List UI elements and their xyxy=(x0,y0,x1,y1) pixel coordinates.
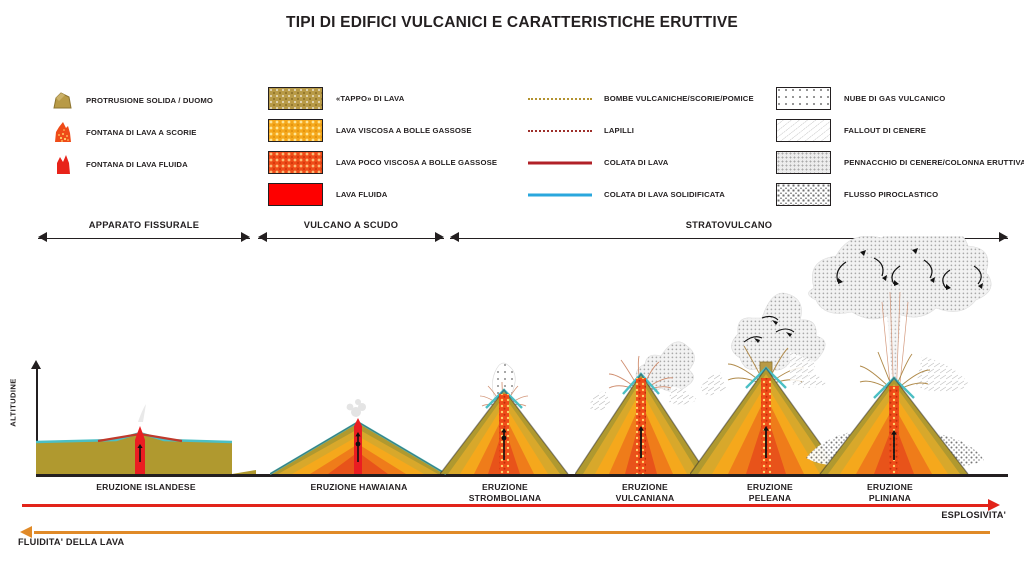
lapilli-line-icon xyxy=(528,125,592,137)
low-viscosity-lava-swatch xyxy=(268,151,323,174)
legend-item: PENNACCHIO DI CENERE/COLONNA ERUTTIVA xyxy=(776,150,1024,175)
volcano-islandese xyxy=(36,400,256,476)
eruption-label-hawaiana: ERUZIONE HAWAIANA xyxy=(270,482,448,493)
volcanic-bombs-line-icon xyxy=(528,93,592,105)
legend-label: NUBE DI GAS VULCANICO xyxy=(844,94,945,103)
eruption-label-pliniana: ERUZIONE PLINIANA xyxy=(820,482,960,504)
category-label: VULCANO A SCUDO xyxy=(258,220,444,230)
infographic-root: TIPI DI EDIFICI VULCANICI E CARATTERISTI… xyxy=(0,0,1024,576)
legend-item: NUBE DI GAS VULCANICO xyxy=(776,86,1024,111)
legend-label: LAVA FLUIDA xyxy=(336,190,387,199)
category-vulcano-a-scudo: VULCANO A SCUDO xyxy=(258,220,444,248)
legend-label: COLATA DI LAVA SOLIDIFICATA xyxy=(604,190,725,199)
legend-item: FALLOUT DI CENERE xyxy=(776,118,1024,143)
legend-column-textures: NUBE DI GAS VULCANICO FALLOUT DI CENERE … xyxy=(776,86,1024,214)
category-line xyxy=(38,238,250,239)
legend-item: «TAPPO» DI LAVA xyxy=(268,86,497,111)
legend-item: FLUSSO PIROCLASTICO xyxy=(776,182,1024,207)
legend-item: FONTANA DI LAVA FLUIDA xyxy=(52,152,213,177)
arrow-left-icon xyxy=(38,232,47,242)
scoria-fountain-icon xyxy=(52,121,74,145)
lava-flow-line-icon xyxy=(528,157,592,169)
legend-column-icons: PROTRUSIONE SOLIDA / DUOMO FONTANA DI LA… xyxy=(52,88,213,184)
legend-label: LAVA POCO VISCOSA A BOLLE GASSOSE xyxy=(336,158,497,167)
fluid-lava-swatch xyxy=(268,183,323,206)
legend-item: BOMBE VULCANICHE/SCORIE/POMICE xyxy=(528,86,754,111)
legend-item: LAPILLI xyxy=(528,118,754,143)
lava-dome-icon xyxy=(52,89,74,113)
category-label: STRATOVULCANO xyxy=(450,220,1008,230)
explosivity-label: ESPLOSIVITA' xyxy=(941,510,1006,520)
ash-fallout-swatch xyxy=(776,119,831,142)
volcano-hawaiana xyxy=(270,396,448,476)
viscous-lava-swatch xyxy=(268,119,323,142)
legend-label: PENNACCHIO DI CENERE/COLONNA ERUTTIVA xyxy=(844,158,1024,167)
legend-label: LAPILLI xyxy=(604,126,634,135)
category-label: APPARATO FISSURALE xyxy=(38,220,250,230)
legend-item: FONTANA DI LAVA A SCORIE xyxy=(52,120,213,145)
arrow-left-icon xyxy=(450,232,459,242)
legend-item: COLATA DI LAVA SOLIDIFICATA xyxy=(528,182,754,207)
arrow-right-icon xyxy=(435,232,444,242)
legend-label: FONTANA DI LAVA A SCORIE xyxy=(86,128,197,137)
legend-label: FLUSSO PIROCLASTICO xyxy=(844,190,938,199)
arrow-left-icon xyxy=(258,232,267,242)
pyroclastic-flow-swatch xyxy=(776,183,831,206)
legend-column-lava: «TAPPO» DI LAVA LAVA VISCOSA A BOLLE GAS… xyxy=(268,86,497,214)
legend-label: PROTRUSIONE SOLIDA / DUOMO xyxy=(86,96,213,105)
category-apparato-fissurale: APPARATO FISSURALE xyxy=(38,220,250,248)
legend-label: LAVA VISCOSA A BOLLE GASSOSE xyxy=(336,126,472,135)
legend-label: BOMBE VULCANICHE/SCORIE/POMICE xyxy=(604,94,754,103)
volcano-pliniana xyxy=(790,236,1020,476)
fluid-lava-fountain-icon xyxy=(52,153,74,177)
explosivity-arrow-line xyxy=(22,504,990,507)
fluidity-label: FLUIDITA' DELLA LAVA xyxy=(18,537,124,547)
legend-column-lines: BOMBE VULCANICHE/SCORIE/POMICE LAPILLI C… xyxy=(528,86,754,214)
arrow-right-icon xyxy=(241,232,250,242)
legend-label: FONTANA DI LAVA FLUIDA xyxy=(86,160,188,169)
lava-plug-swatch xyxy=(268,87,323,110)
legend-item: LAVA FLUIDA xyxy=(268,182,497,207)
volcano-stromboliana xyxy=(440,356,570,476)
legend-label: FALLOUT DI CENERE xyxy=(844,126,926,135)
ash-plume-swatch xyxy=(776,151,831,174)
legend-item: LAVA POCO VISCOSA A BOLLE GASSOSE xyxy=(268,150,497,175)
category-line xyxy=(258,238,444,239)
legend-item: PROTRUSIONE SOLIDA / DUOMO xyxy=(52,88,213,113)
gas-cloud-swatch xyxy=(776,87,831,110)
eruption-label-stromboliana: ERUZIONE STROMBOLIANA xyxy=(440,482,570,504)
legend-item: COLATA DI LAVA xyxy=(528,150,754,175)
legend-label: «TAPPO» DI LAVA xyxy=(336,94,404,103)
y-axis-label: ALTITUDINE xyxy=(9,368,18,438)
solidified-lava-flow-line-icon xyxy=(528,189,592,201)
fluidity-arrow-line xyxy=(34,531,990,534)
eruption-label-islandese: ERUZIONE ISLANDESE xyxy=(36,482,256,493)
legend-item: LAVA VISCOSA A BOLLE GASSOSE xyxy=(268,118,497,143)
legend-label: COLATA DI LAVA xyxy=(604,158,668,167)
page-title: TIPI DI EDIFICI VULCANICI E CARATTERISTI… xyxy=(0,14,1024,32)
